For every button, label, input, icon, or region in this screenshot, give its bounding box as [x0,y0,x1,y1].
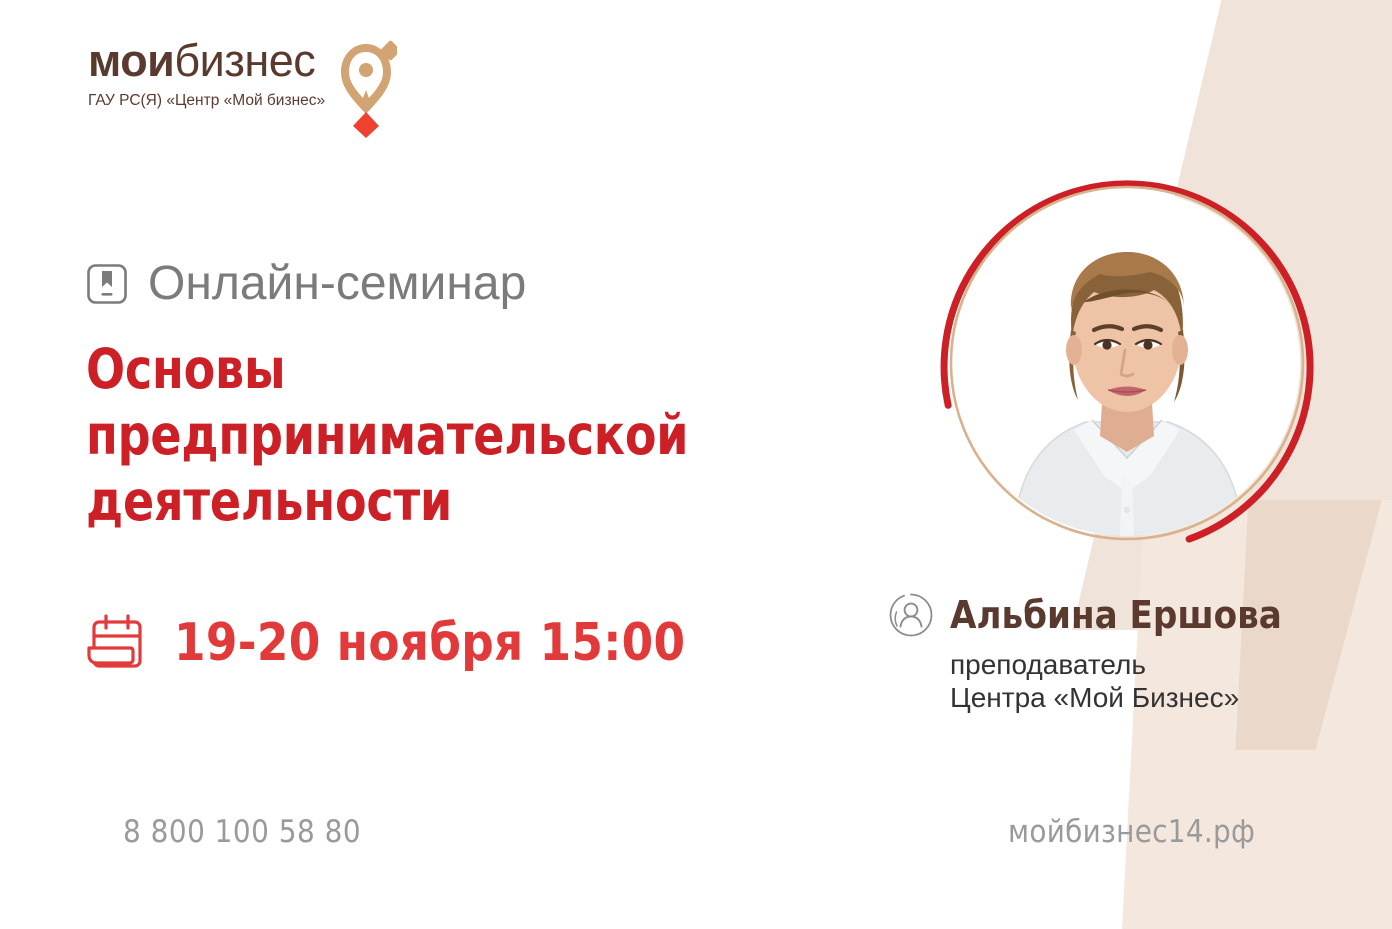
logo-word-light: бизнес [174,35,315,86]
portrait-photo-clip [954,190,1300,536]
speaker-portrait [932,168,1322,558]
title-line-1: Основы [86,336,681,402]
logo-wordmark: моибизнес [88,36,325,85]
rocket-pin-icon [335,38,397,138]
brand-logo[interactable]: моибизнес ГАУ РС(Я) «Центр «Мой бизнес» [88,36,397,138]
person-circle-icon [888,592,934,638]
kicker-label: Онлайн-семинар [148,258,526,310]
bookmark-box-icon [86,263,128,305]
datetime-label: 19-20 ноября 15:00 [174,615,685,671]
logo-subtitle: ГАУ РС(Я) «Центр «Мой бизнес» [88,91,325,110]
logo-word-bold: мои [88,35,174,86]
speaker-name: Альбина Ершова [950,594,1282,636]
contact-website[interactable]: мойбизнес14.рф [1008,814,1255,850]
speaker-role-line-2: Центра «Мой Бизнес» [950,681,1288,714]
promo-banner: моибизнес ГАУ РС(Я) «Центр «Мой бизнес» … [0,0,1392,929]
title-line-3: деятельности [86,468,681,534]
calendar-icon [86,612,148,674]
speaker-name-row: Альбина Ершова [888,592,1288,638]
page-title: Основы предпринимательской деятельности [86,336,681,534]
event-datetime: 19-20 ноября 15:00 [86,612,701,674]
title-line-2: предпринимательской [86,402,681,468]
logo-text-block: моибизнес ГАУ РС(Я) «Центр «Мой бизнес» [88,36,325,110]
speaker-role: преподаватель Центра «Мой Бизнес» [950,648,1288,714]
portrait-photo [954,190,1300,536]
speaker-role-line-1: преподаватель [950,648,1288,681]
contact-phone[interactable]: 8 800 100 58 80 [123,814,361,850]
event-kicker: Онлайн-семинар [86,258,526,310]
speaker-info: Альбина Ершова преподаватель Центра «Мой… [888,592,1288,714]
